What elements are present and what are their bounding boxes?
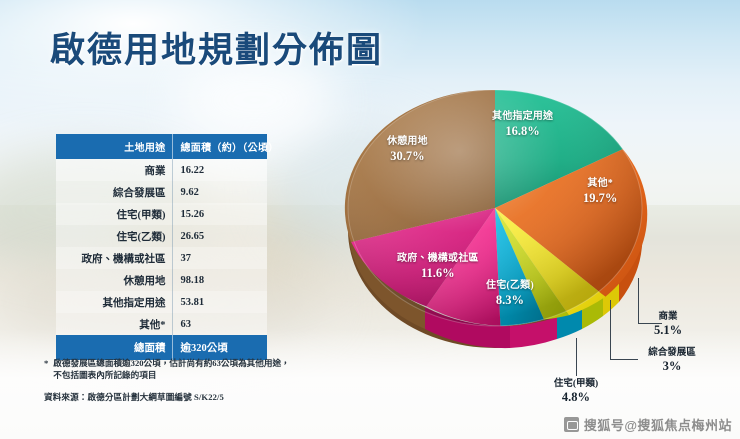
table-row: 住宅(乙類) 26.65: [56, 225, 267, 247]
cell-land-use: 政府、機構或社區: [56, 247, 172, 269]
source-line: 資料來源：啟德分區計劃大綱草圖編號 S/K22/5: [44, 391, 294, 403]
cell-land-use: 住宅(甲類): [56, 203, 172, 225]
pie-chart-svg: [335, 58, 655, 358]
footnote-text: 啟德發展區總面積逾320公頃，估計尚有約63公頃為其他用途，不包括圖表內所記錄的…: [53, 357, 294, 382]
watermark: 搜狐号@搜狐焦点梅州站: [564, 415, 732, 434]
table-row: 休憩用地 98.18: [56, 269, 267, 291]
pie-chart: 休憩用地 30.7% 其他指定用途 16.8% 其他* 19.7% 政府、機構或…: [335, 58, 655, 358]
cell-land-use: 商業: [56, 159, 172, 181]
column-header-land-use: 土地用途: [56, 134, 172, 159]
page-title: 啟德用地規劃分佈圖: [50, 22, 383, 73]
watermark-text: 搜狐号@搜狐焦点梅州站: [584, 415, 732, 434]
pie-gloss-overlay: [348, 90, 642, 326]
cell-total-area: 15.26: [172, 203, 267, 225]
table-row: 綜合發展區 9.62: [56, 181, 267, 203]
cell-land-use: 住宅(乙類): [56, 225, 172, 247]
column-header-total-area: 總面積（約）（公頃）: [172, 134, 267, 159]
cell-land-use: 休憩用地: [56, 269, 172, 291]
cell-total-area: 26.65: [172, 225, 267, 247]
cell-total-area: 63: [172, 313, 267, 335]
cell-total-area: 9.62: [172, 181, 267, 203]
cell-land-use: 綜合發展區: [56, 181, 172, 203]
infographic-root: 啟德用地規劃分佈圖 土地用途 總面積（約）（公頃） 商業 16.22 綜合發展區…: [0, 0, 740, 439]
cell-total-area: 37: [172, 247, 267, 269]
cell-total-area: 98.18: [172, 269, 267, 291]
table-body: 商業 16.22 綜合發展區 9.62 住宅(甲類) 15.26 住宅(乙類) …: [56, 159, 267, 335]
table-row: 其他指定用途 53.81: [56, 291, 267, 313]
cell-land-use: 其他*: [56, 313, 172, 335]
sohu-logo-icon: [564, 417, 579, 432]
cell-total-area: 53.81: [172, 291, 267, 313]
footnote-asterisk: * 啟德發展區總面積逾320公頃，估計尚有約63公頃為其他用途，不包括圖表內所記…: [44, 357, 294, 382]
footnotes: * 啟德發展區總面積逾320公頃，估計尚有約63公頃為其他用途，不包括圖表內所記…: [44, 357, 294, 403]
table-row: 政府、機構或社區 37: [56, 247, 267, 269]
table-row: 商業 16.22: [56, 159, 267, 181]
cell-land-use: 其他指定用途: [56, 291, 172, 313]
cell-total-area: 16.22: [172, 159, 267, 181]
asterisk-marker: *: [44, 357, 48, 382]
table-header: 土地用途 總面積（約）（公頃）: [56, 134, 267, 159]
table-row: 住宅(甲類) 15.26: [56, 203, 267, 225]
table-row: 其他* 63: [56, 313, 267, 335]
land-use-table: 土地用途 總面積（約）（公頃） 商業 16.22 綜合發展區 9.62 住宅(甲…: [56, 134, 267, 360]
land-use-table-container: 土地用途 總面積（約）（公頃） 商業 16.22 綜合發展區 9.62 住宅(甲…: [56, 134, 267, 360]
table-header-row: 土地用途 總面積（約）（公頃）: [56, 134, 267, 159]
